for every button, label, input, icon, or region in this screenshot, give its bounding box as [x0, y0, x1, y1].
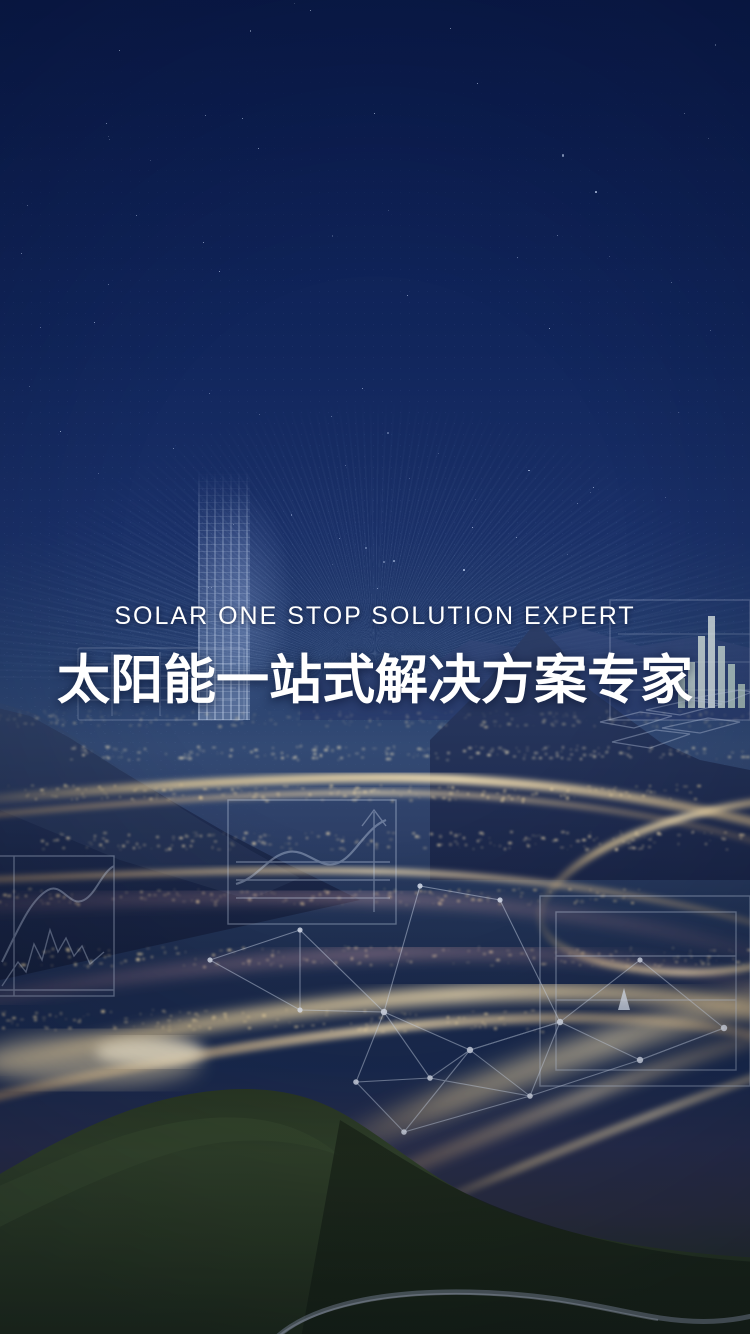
boat-light	[618, 988, 630, 1010]
area-chart-overlay	[0, 856, 114, 996]
hero-banner: SOLAR ONE STOP SOLUTION EXPERT 太阳能一站式解决方…	[0, 0, 750, 1334]
banner-headline-text: 太阳能一站式解决方案专家	[0, 650, 750, 712]
network-mesh-nodes	[207, 883, 727, 1134]
network-mesh-overlay	[210, 886, 724, 1132]
line-chart-overlay	[228, 800, 396, 924]
frame-panel-right	[540, 896, 750, 1086]
banner-eyebrow-text: SOLAR ONE STOP SOLUTION EXPERT	[0, 600, 750, 632]
banner-text-block: SOLAR ONE STOP SOLUTION EXPERT 太阳能一站式解决方…	[0, 600, 750, 712]
